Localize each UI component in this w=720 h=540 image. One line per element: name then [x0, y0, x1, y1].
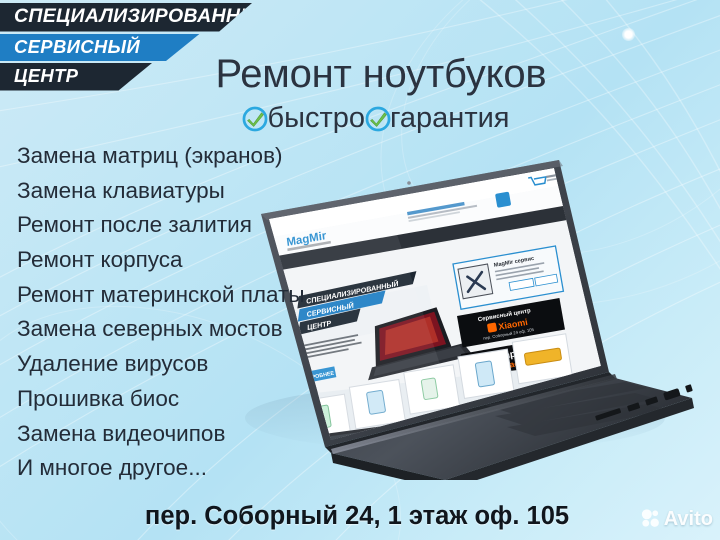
services-list: Замена матриц (экранов) Замена клавиатур… — [17, 145, 305, 492]
green-check-circle-icon — [365, 106, 391, 132]
feature-fast-label: быстро — [267, 104, 365, 133]
service-item: Ремонт корпуса — [17, 249, 305, 272]
service-item: Замена видеочипов — [17, 423, 305, 446]
avito-label: Avito — [664, 509, 713, 529]
service-item: Ремонт материнской платы — [17, 284, 305, 307]
feature-fast: быстро — [242, 104, 365, 133]
ribbon-specialized: СПЕЦИАЛИЗИРОВАННЫЙ — [0, 3, 252, 32]
service-item: Прошивка биос — [17, 388, 305, 411]
address-text: пер. Соборный 24, 1 этаж оф. 105 — [0, 502, 720, 531]
feature-warranty-label: гарантия — [390, 104, 510, 133]
feature-warranty: гарантия — [365, 104, 510, 133]
ribbon-service: СЕРВИСНЫЙ — [0, 34, 200, 62]
service-item: Удаление вирусов — [17, 353, 305, 376]
service-item: Замена северных мостов — [17, 318, 305, 341]
service-item: Замена клавиатуры — [17, 180, 305, 203]
subtitle-features: быстро гарантия — [0, 104, 720, 133]
avito-watermark: Avito — [640, 508, 713, 529]
header-ribbons: СПЕЦИАЛИЗИРОВАННЫЙ СЕРВИСНЫЙ ЦЕНТР — [0, 3, 252, 91]
service-item: И многое другое... — [17, 457, 305, 480]
light-glow-dot — [622, 28, 635, 41]
avito-logo-icon — [640, 508, 661, 529]
service-item: Ремонт после залития — [17, 214, 305, 237]
ribbon-center: ЦЕНТР — [0, 63, 152, 91]
green-check-circle-icon — [242, 106, 268, 132]
service-item: Замена матриц (экранов) — [17, 145, 305, 168]
advertisement-poster: СПЕЦИАЛИЗИРОВАННЫЙ СЕРВИСНЫЙ ЦЕНТР Ремон… — [0, 0, 720, 540]
